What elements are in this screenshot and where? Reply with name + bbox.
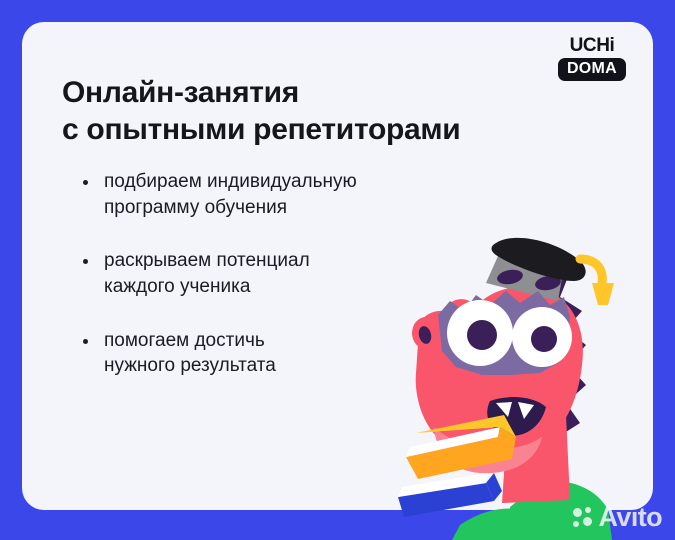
title-line-1: Онлайн-занятия	[62, 74, 532, 111]
brand-logo: UCHi DOMA	[553, 36, 631, 81]
mascot-shirt-arm	[452, 509, 520, 540]
bullet-dot-icon	[83, 339, 88, 344]
logo-doma-badge: DOMA	[558, 58, 626, 81]
bullet-dot-icon	[83, 180, 88, 185]
mascot-pupil-right	[531, 326, 557, 352]
avito-watermark: Avito	[573, 504, 663, 531]
mascot-pupil-left	[467, 320, 497, 350]
title-line-2: с опытными репетиторами	[62, 111, 532, 148]
avito-dots-icon	[573, 507, 595, 529]
cap-tassel-knot	[592, 283, 614, 305]
page-title: Онлайн-занятия с опытными репетиторами	[62, 74, 532, 148]
bullet-dot-icon	[83, 259, 88, 264]
poster-canvas: UCHi DOMA Онлайн-занятия с опытными репе…	[0, 0, 675, 540]
avito-wordmark: Avito	[599, 504, 663, 531]
list-item-line-1: подбираем индивидуальную	[104, 169, 478, 195]
list-item: подбираем индивидуальную программу обуче…	[78, 169, 478, 220]
list-item-line-2: программу обучения	[104, 195, 478, 221]
dinosaur-mascot-illustration	[390, 225, 675, 540]
logo-uchi-text: UCHi	[553, 36, 631, 56]
